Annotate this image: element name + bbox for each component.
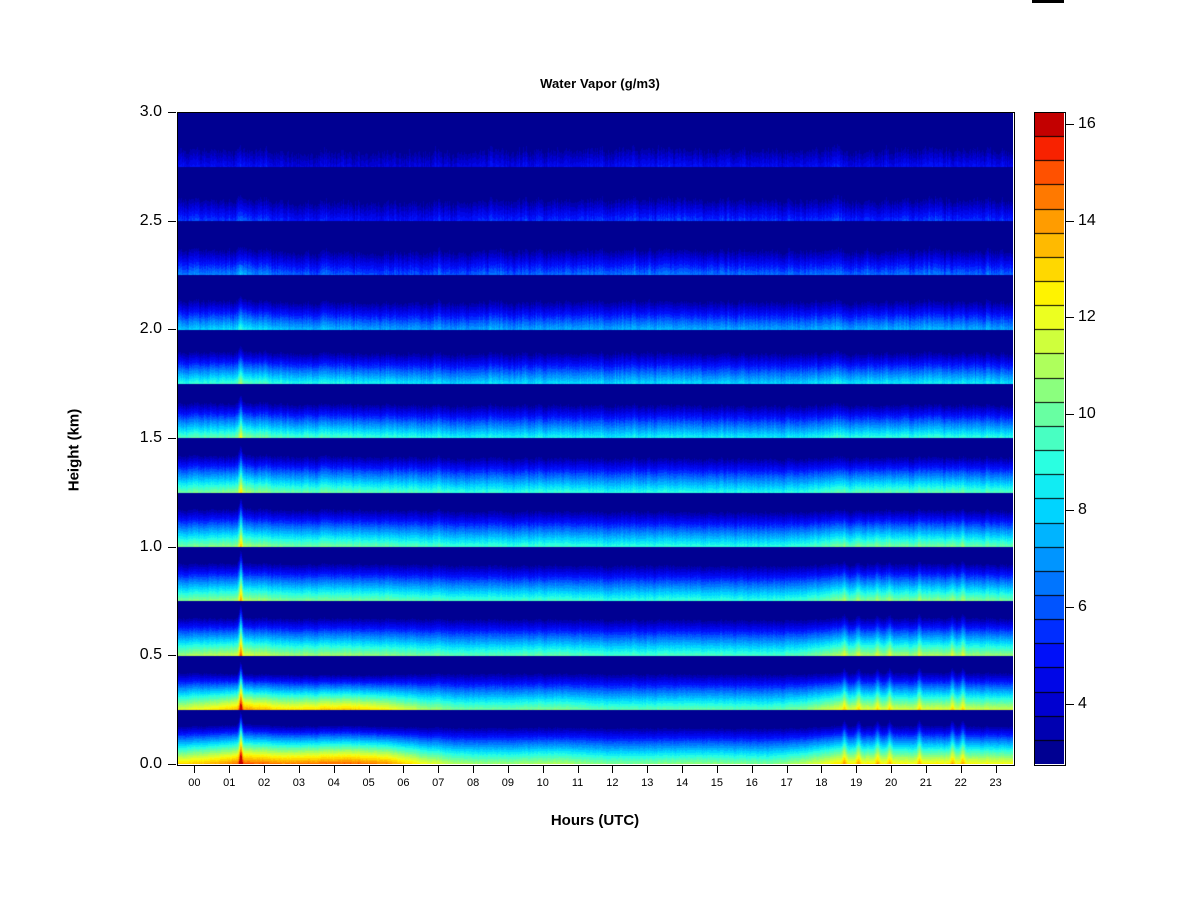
x-tick-label: 02 [247, 777, 281, 789]
x-tick-label: 10 [526, 777, 560, 789]
colorbar-tick-label: 16 [1078, 115, 1096, 133]
x-tick-mark [961, 765, 962, 773]
colorbar-tick-mark [1065, 510, 1074, 511]
x-tick-label: 01 [212, 777, 246, 789]
x-tick-mark [926, 765, 927, 773]
x-tick-label: 14 [665, 777, 699, 789]
colorbar-tick-mark [1065, 414, 1074, 415]
x-tick-label: 03 [282, 777, 316, 789]
colorbar-tick-label: 8 [1078, 501, 1087, 519]
top-right-artifact [1032, 0, 1064, 3]
y-tick-label: 2.5 [116, 212, 162, 230]
x-axis-label: Hours (UTC) [177, 812, 1013, 829]
x-tick-label: 16 [735, 777, 769, 789]
x-tick-mark [856, 765, 857, 773]
y-tick-mark [168, 329, 176, 330]
colorbar-tick-mark [1065, 317, 1074, 318]
y-tick-mark [168, 221, 176, 222]
y-tick-mark [168, 112, 176, 113]
colorbar-tick-mark [1065, 607, 1074, 608]
x-tick-mark [821, 765, 822, 773]
x-tick-mark [612, 765, 613, 773]
colorbar-tick-label: 6 [1078, 598, 1087, 616]
x-tick-label: 06 [386, 777, 420, 789]
x-tick-mark [682, 765, 683, 773]
y-tick-mark [168, 438, 176, 439]
x-tick-mark [787, 765, 788, 773]
x-tick-mark [369, 765, 370, 773]
x-tick-mark [403, 765, 404, 773]
x-tick-label: 13 [630, 777, 664, 789]
colorbar-tick-mark [1065, 124, 1074, 125]
x-tick-label: 09 [491, 777, 525, 789]
x-tick-mark [438, 765, 439, 773]
x-tick-mark [578, 765, 579, 773]
y-axis-label-wrap: Height (km) [62, 438, 86, 462]
x-tick-mark [264, 765, 265, 773]
y-tick-label: 3.0 [116, 103, 162, 121]
x-tick-label: 00 [177, 777, 211, 789]
x-tick-label: 11 [561, 777, 595, 789]
x-tick-label: 08 [456, 777, 490, 789]
x-tick-label: 07 [421, 777, 455, 789]
y-tick-label: 1.0 [116, 538, 162, 556]
colorbar-gradient [1034, 112, 1064, 764]
x-tick-mark [996, 765, 997, 773]
page-title: Water Vapor (g/m3) [0, 76, 1200, 91]
x-tick-label: 05 [352, 777, 386, 789]
y-tick-mark [168, 655, 176, 656]
colorbar-tick-label: 14 [1078, 212, 1096, 230]
x-tick-label: 22 [944, 777, 978, 789]
colorbar-tick-label: 4 [1078, 695, 1087, 713]
y-tick-label: 1.5 [116, 429, 162, 447]
y-axis-label: Height (km) [66, 409, 83, 492]
x-tick-label: 18 [804, 777, 838, 789]
colorbar-tick-label: 10 [1078, 405, 1096, 423]
x-tick-label: 15 [700, 777, 734, 789]
x-tick-label: 17 [770, 777, 804, 789]
x-tick-mark [647, 765, 648, 773]
x-tick-mark [334, 765, 335, 773]
colorbar-tick-mark [1065, 221, 1074, 222]
x-tick-label: 20 [874, 777, 908, 789]
water-vapor-time-height-figure: Water Vapor (g/m3) 0.00.51.01.52.02.53.0… [0, 0, 1200, 900]
x-tick-mark [891, 765, 892, 773]
y-tick-label: 2.0 [116, 320, 162, 338]
x-tick-label: 21 [909, 777, 943, 789]
x-tick-mark [194, 765, 195, 773]
y-tick-label: 0.0 [116, 755, 162, 773]
x-tick-label: 04 [317, 777, 351, 789]
x-tick-label: 19 [839, 777, 873, 789]
colorbar-tick-mark [1065, 704, 1074, 705]
x-tick-mark [508, 765, 509, 773]
x-tick-label: 23 [979, 777, 1013, 789]
x-tick-label: 12 [595, 777, 629, 789]
colorbar-tick-label: 12 [1078, 308, 1096, 326]
y-tick-mark [168, 764, 176, 765]
x-tick-mark [473, 765, 474, 773]
x-tick-mark [229, 765, 230, 773]
y-tick-label: 0.5 [116, 646, 162, 664]
x-tick-mark [752, 765, 753, 773]
x-tick-mark [299, 765, 300, 773]
heatmap-plot-area [177, 112, 1013, 764]
x-tick-mark [717, 765, 718, 773]
y-tick-mark [168, 547, 176, 548]
x-tick-mark [543, 765, 544, 773]
